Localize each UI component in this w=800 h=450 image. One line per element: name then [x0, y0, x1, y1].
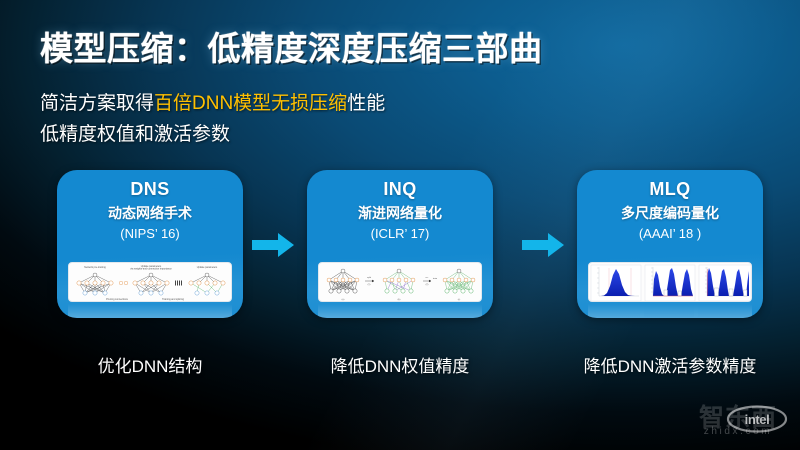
card-venue: (NIPS’ 16): [57, 226, 243, 241]
arrow-dns-to-inq: [252, 232, 294, 258]
card-venue: (ICLR’ 17): [307, 226, 493, 241]
right-arrow-icon: [522, 232, 564, 258]
pipeline-card-mlq[interactable]: MLQ 多尺度编码量化 (AAAI’ 18 ): [577, 170, 763, 318]
svg-text:(b): (b): [398, 299, 401, 301]
card-thumbnail-reflection: [588, 303, 752, 318]
subtitle-text-pre: 简洁方案取得: [40, 93, 154, 114]
inq-incremental-quantization-diagram: split(1) re-(2) train (a)(b)(c): [318, 262, 482, 302]
svg-text:Training and splicing: Training and splicing: [162, 298, 185, 301]
watermark: 智东西 zhidx.com intel: [686, 398, 790, 444]
svg-text:Update parameters: Update parameters: [197, 266, 218, 269]
caption-mlq: 降低DNN激活参数精度: [547, 352, 793, 377]
dns-diagram-reflection: Pruning connectionsTraining and splicing: [68, 303, 232, 318]
mlq-activation-histogram-charts: [588, 262, 752, 302]
arrow-inq-to-mlq: [522, 232, 564, 258]
pipeline-card-dns[interactable]: DNS 动态网络手术 (NIPS’ 16) Network pre-traini…: [57, 170, 243, 318]
inq-diagram-reflection: (a)(b)(c): [318, 303, 482, 318]
caption-inq: 降低DNN权值精度: [287, 352, 513, 377]
dns-diagram-reflection-svg: Pruning connectionsTraining and splicing: [68, 303, 232, 318]
pipeline-card-inq[interactable]: INQ 渐进网络量化 (ICLR’ 17): [307, 170, 493, 318]
card-acronym: DNS: [57, 179, 243, 200]
card-thumbnail-wrap: Network pre-training Update parameters v…: [68, 262, 232, 302]
subtitle-line-2: 低精度权值和激活参数: [40, 119, 385, 150]
pipeline-card-row: DNS 动态网络手术 (NIPS’ 16) Network pre-traini…: [0, 170, 800, 320]
card-thumbnail-wrap: [588, 262, 752, 302]
svg-text:(c): (c): [458, 299, 461, 301]
svg-text:train: train: [433, 277, 438, 280]
slide-canvas: 模型压缩：低精度深度压缩三部曲 简洁方案取得百倍DNN模型无损压缩性能 低精度权…: [0, 0, 800, 450]
right-arrow-icon: [252, 232, 294, 258]
mlq-histograms-reflection: [588, 303, 752, 318]
svg-text:intel: intel: [745, 412, 770, 427]
card-acronym: INQ: [307, 179, 493, 200]
subtitle-highlight: 百倍DNN模型无损压缩: [154, 93, 347, 114]
dns-network-surgery-diagram: Network pre-training Update parameters v…: [68, 262, 232, 302]
svg-text:(1): (1): [368, 284, 371, 286]
intel-logo: intel: [726, 404, 788, 434]
card-thumbnail-wrap: split(1) re-(2) train (a)(b)(c): [318, 262, 482, 302]
svg-text:split: split: [367, 276, 371, 279]
inq-diagram-svg: split(1) re-(2) train (a)(b)(c): [319, 263, 482, 302]
svg-text:(2): (2): [426, 284, 429, 286]
svg-text:Network pre-training: Network pre-training: [84, 266, 106, 269]
subtitle-block: 简洁方案取得百倍DNN模型无损压缩性能 低精度权值和激活参数: [40, 88, 385, 150]
page-title: 模型压缩：低精度深度压缩三部曲: [40, 22, 543, 70]
dns-diagram-svg: Network pre-training Update parameters v…: [69, 263, 232, 302]
subtitle-line-1: 简洁方案取得百倍DNN模型无损压缩性能: [40, 88, 385, 119]
card-thumbnail-reflection: (a)(b)(c): [318, 303, 482, 318]
card-venue: (AAAI’ 18 ): [577, 226, 763, 241]
mlq-histograms-reflection-svg: [588, 303, 752, 318]
caption-dns: 优化DNN结构: [57, 352, 243, 377]
svg-text:Pruning connections: Pruning connections: [106, 298, 128, 301]
card-chinese-name: 渐进网络量化: [307, 203, 493, 223]
svg-text:re-: re-: [426, 276, 429, 279]
svg-text:via weights-and-connection imp: via weights-and-connection importance: [130, 268, 172, 271]
mlq-histograms-svg: [589, 263, 752, 302]
card-acronym: MLQ: [577, 179, 763, 200]
card-chinese-name: 动态网络手术: [57, 203, 243, 223]
card-thumbnail-reflection: Pruning connectionsTraining and splicing: [68, 303, 232, 318]
inq-diagram-reflection-svg: (a)(b)(c): [318, 303, 482, 318]
subtitle-text-post: 性能: [347, 93, 385, 114]
card-chinese-name: 多尺度编码量化: [577, 203, 763, 223]
svg-text:(a): (a): [342, 299, 345, 301]
